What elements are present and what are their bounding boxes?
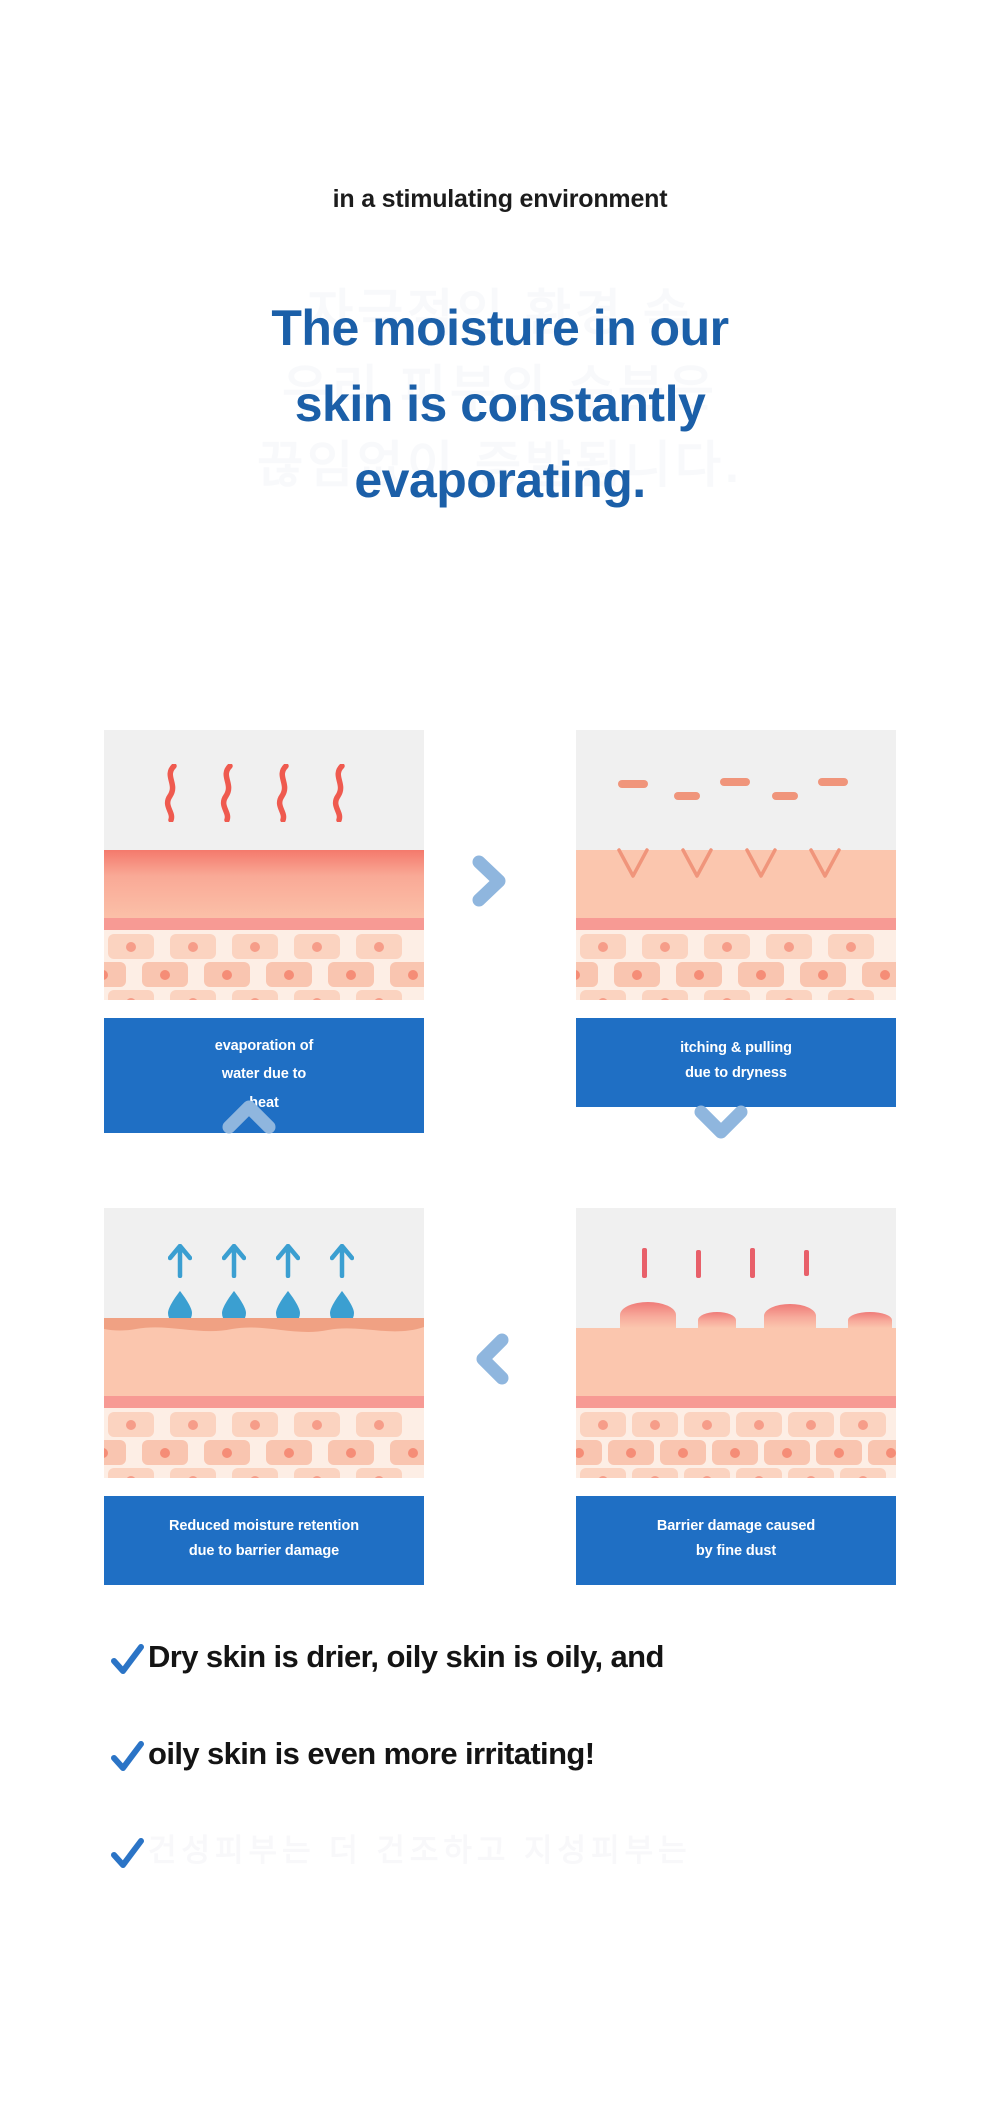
cell-row (108, 990, 424, 1000)
panel-dryness-caption: itching & pulling due to dryness (576, 1018, 896, 1107)
up-arrow-icon (168, 1244, 192, 1283)
skin-bump (764, 1304, 816, 1328)
headline-line-2: skin is constantly (0, 366, 1000, 442)
cell-row (108, 934, 424, 960)
caption-line: Reduced moisture retention (112, 1514, 416, 1539)
air-zone (104, 730, 424, 850)
panel-moisture-loss: Reduced moisture retention due to barrie… (104, 1208, 424, 1585)
page-title: The moisture in our skin is constantly e… (0, 290, 1000, 518)
panel-heat: evaporation of water due to heat (104, 730, 424, 1133)
list-item-label: Dry skin is drier, oily skin is oily, an… (148, 1640, 664, 1674)
flake-dash-icon (818, 778, 848, 786)
dryness-crack-icon (744, 848, 778, 887)
panel-moisture-loss-caption: Reduced moisture retention due to barrie… (104, 1496, 424, 1585)
dryness-crack-icon (680, 848, 714, 887)
arrow-down-icon (694, 1103, 748, 1143)
cell-row (108, 1468, 424, 1478)
skin-bump (698, 1312, 736, 1328)
up-arrow-icon (222, 1244, 246, 1283)
cell-row (104, 1440, 420, 1466)
flake-dash-icon (674, 792, 700, 800)
caption-line: due to dryness (584, 1061, 888, 1086)
list-item: Dry skin is drier, oily skin is oily, an… (110, 1640, 970, 1737)
list-item: oily skin is even more irritating! (110, 1737, 970, 1834)
cell-row (108, 1412, 424, 1438)
cell-row (104, 962, 420, 988)
caption-line: evaporation of (112, 1032, 416, 1060)
air-zone (104, 1208, 424, 1323)
skin-bump (848, 1312, 892, 1328)
flake-dash-icon (772, 792, 798, 800)
arrow-right-icon (470, 855, 510, 907)
caption-line: itching & pulling (584, 1036, 888, 1061)
cell-row (580, 990, 896, 1000)
caption-line: Barrier damage caused (584, 1514, 888, 1539)
list-item-label-ghost: 건성피부는 더 건조하고 지성피부는 (148, 1834, 692, 1868)
basal-layer (576, 918, 896, 930)
check-icon (110, 1741, 148, 1775)
headline-line-1: The moisture in our (0, 290, 1000, 366)
eyebrow-text: in a stimulating environment (0, 185, 1000, 214)
check-icon (110, 1838, 148, 1872)
wavy-surface (104, 1318, 424, 1340)
irritation-bar-icon (804, 1250, 809, 1276)
up-arrow-icon (330, 1244, 354, 1283)
infographic-page: in a stimulating environment 자극적인 환경 속 우… (0, 0, 1000, 2102)
heat-squiggle-icon (160, 764, 182, 827)
flake-dash-icon (720, 778, 750, 786)
irritation-bar-icon (696, 1250, 701, 1278)
skin-bump (620, 1302, 676, 1328)
heat-squiggle-icon (272, 764, 294, 827)
headline-block: The moisture in our skin is constantly e… (0, 290, 1000, 518)
cell-row (580, 1468, 896, 1478)
heat-squiggle-icon (328, 764, 350, 827)
panel-dryness-illustration (576, 730, 896, 1000)
basal-layer (576, 1396, 896, 1408)
check-icon (110, 1644, 148, 1678)
cell-row (580, 1412, 896, 1438)
epidermis-layer (576, 1328, 896, 1396)
caption-line: due to barrier damage (112, 1539, 416, 1564)
list-item-label: oily skin is even more irritating! (148, 1737, 594, 1771)
bullet-list: Dry skin is drier, oily skin is oily, an… (110, 1640, 970, 1931)
irritation-bar-icon (642, 1248, 647, 1278)
air-zone (576, 730, 896, 850)
panel-fine-dust-caption: Barrier damage caused by fine dust (576, 1496, 896, 1585)
cell-row (580, 934, 896, 960)
cell-row (576, 1440, 896, 1466)
basal-layer (104, 1396, 424, 1408)
up-arrow-icon (276, 1244, 300, 1283)
panel-moisture-loss-illustration (104, 1208, 424, 1478)
heat-squiggle-icon (216, 764, 238, 827)
panel-heat-illustration (104, 730, 424, 1000)
dryness-crack-icon (616, 848, 650, 887)
headline-line-3: evaporating. (0, 442, 1000, 518)
panel-fine-dust: Barrier damage caused by fine dust (576, 1208, 896, 1585)
cell-row (576, 962, 892, 988)
caption-line: water due to (112, 1060, 416, 1088)
basal-layer (104, 918, 424, 930)
panel-fine-dust-illustration (576, 1208, 896, 1478)
dryness-crack-icon (808, 848, 842, 887)
panel-dryness: itching & pulling due to dryness (576, 730, 896, 1107)
arrow-up-icon (222, 1097, 276, 1137)
flake-dash-icon (618, 780, 648, 788)
caption-line: by fine dust (584, 1539, 888, 1564)
irritation-bar-icon (750, 1248, 755, 1278)
arrow-left-icon (472, 1333, 512, 1385)
epidermis-heated (104, 850, 424, 918)
list-item: 건성피부는 더 건조하고 지성피부는 (110, 1834, 970, 1931)
